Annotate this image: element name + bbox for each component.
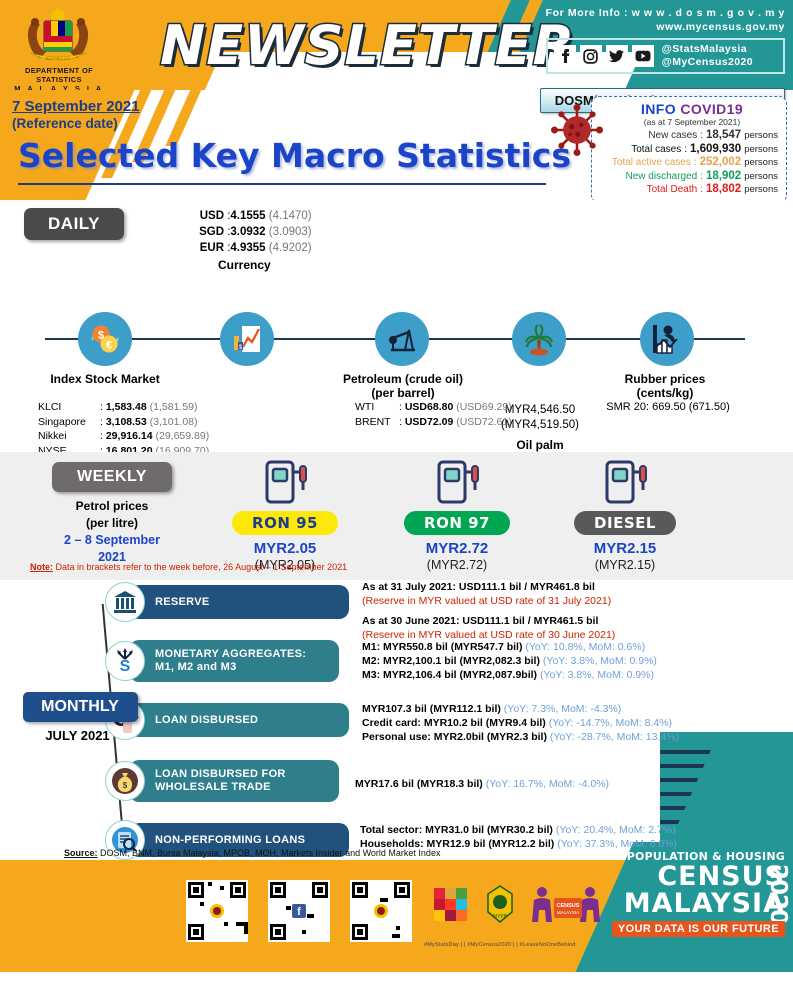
value-previous: (29,659.89) [155, 430, 209, 442]
fuel-column: RON 97MYR2.72(MYR2.72) [382, 458, 532, 572]
covid-row-unit: persons [744, 143, 778, 157]
monthly-value-main: Personal use: MYR2.0bil (MYR2.3 bil) [362, 731, 547, 743]
fuel-column: DIESELMYR2.15(MYR2.15) [550, 458, 700, 572]
petroleum-caption: Petroleum (crude oil) (per barrel) [318, 372, 488, 400]
covid-row: Total Death:18,802persons [606, 183, 778, 197]
covid-subtitle: (as at 7 September 2021) [606, 117, 778, 127]
monthly-value-main: As at 31 July 2021: USD111.1 bil / MYR46… [362, 581, 595, 593]
qr-code-dosm[interactable] [186, 880, 248, 942]
fuel-name: RON 95 [232, 511, 338, 535]
weekly-badge: WEEKLY [52, 462, 172, 492]
covid-row: New cases:18,547persons [606, 129, 778, 143]
monthly-row-label-l1: LOAN DISBURSED [155, 714, 258, 727]
daily-section: DAILY USD :4.1555 (4.1470)SGD :3.0932 (3… [0, 200, 793, 450]
covid-row-sep: : [694, 156, 697, 170]
currency-code: USD [190, 208, 224, 224]
weekly-note-label: Note: [30, 562, 53, 572]
value-sep: : [100, 401, 103, 413]
monthly-value-main: M3: MYR2,106.4 bil (MYR2,087.9bil) [362, 669, 537, 681]
covid-title-info: INFO [641, 101, 680, 117]
weekly-note-text: Data in brackets refer to the week befor… [53, 562, 347, 572]
monthly-row-label-l2: M1, M2 and M3 [155, 661, 329, 674]
monthly-row-label-l1: RESERVE [155, 596, 209, 609]
covid-row-label: New cases [648, 129, 697, 143]
facebook-icon[interactable] [554, 45, 576, 67]
newsletter-page: BERSEKUTU DEPARTMENT OF STATISTICS M A L… [0, 0, 793, 982]
value-previous: (USD69.29) [456, 401, 511, 413]
census-line-3: MALAYSIA [585, 890, 785, 918]
petrol-caption-l2: (per litre) [50, 515, 174, 532]
monthly-row-label-l1: LOAN DISBURSED FOR [155, 768, 329, 781]
monthly-value-change: (YoY: -14.7%, MoM: 8.4%) [546, 717, 672, 729]
currency-value: 4.1555 [230, 210, 265, 222]
monthly-value-sub: (Reserve in MYR valued at USD rate of 31… [362, 594, 615, 608]
fuel-pump-icon [253, 458, 317, 504]
department-name: DEPARTMENT OF STATISTICS M A L A Y S I A [14, 66, 104, 90]
value-sep: : [100, 416, 103, 428]
value-previous: (3,101.08) [150, 416, 198, 428]
fuel-pump-icon [425, 458, 489, 504]
money-supply-icon: S [105, 641, 145, 681]
value-name: Nikkei [38, 429, 100, 444]
twitter-icon[interactable] [606, 45, 628, 67]
coronavirus-icon [551, 104, 603, 156]
value-row: KLCI: 1,583.48 (1,581.59) [38, 400, 209, 415]
currency-code: SGD [190, 224, 224, 240]
covid-row-label: Total Death [647, 183, 698, 197]
monthly-row-values: MYR17.6 bil (MYR18.3 bil) (YoY: 16.7%, M… [355, 777, 609, 791]
weekly-section: WEEKLY Petrol prices (per litre) 2 – 8 S… [0, 452, 793, 580]
covid-info-panel: INFO COVID19 (as at 7 September 2021) Ne… [551, 96, 787, 200]
monthly-value-line: M1: MYR550.8 bil (MYR547.7 bil) (YoY: 10… [362, 640, 657, 654]
monthly-row: $LOAN DISBURSED FORWHOLESALE TRADE [105, 760, 339, 802]
covid-row: New discharged:18,902persons [606, 170, 778, 184]
covid-row-value: 18,802 [706, 183, 741, 197]
monthly-row-label: RESERVE [129, 585, 349, 619]
monthly-row-label: LOAN DISBURSED [129, 703, 349, 737]
fuel-column: RON 95MYR2.05(MYR2.05) [210, 458, 360, 572]
monthly-value-main: MYR107.3 bil (MYR112.1 bil) [362, 703, 501, 715]
svg-text:MYPB: MYPB [493, 914, 508, 920]
value-current: 3,108.53 [106, 416, 147, 428]
census-line-2: CENSUS [585, 863, 785, 890]
currency-code: EUR [190, 240, 224, 256]
monthly-row-values: As at 31 July 2021: USD111.1 bil / MYR46… [362, 580, 615, 648]
census-banner: POPULATION & HOUSING CENSUS MALAYSIA YOU… [585, 850, 785, 937]
oil-palm-caption-l1: Oil palm [470, 438, 610, 452]
monthly-value-line: Personal use: MYR2.0bil (MYR2.3 bil) (Yo… [362, 730, 679, 744]
page-header: BERSEKUTU DEPARTMENT OF STATISTICS M A L… [0, 0, 793, 90]
currency-prev: (3.0903) [269, 226, 312, 238]
svg-text:CENSUS: CENSUS [557, 903, 580, 909]
covid-row-sep: : [700, 170, 703, 184]
source-line: Source: DOSM, BNM, Bursa Malaysia, MPOB,… [64, 848, 440, 858]
covid-row-value: 252,002 [700, 156, 742, 170]
monthly-value-change: (YoY: 10.8%, MoM: 0.6%) [522, 641, 645, 653]
monthly-value-change: (YoY: 20.4%, MoM: 2.7%) [553, 824, 676, 836]
value-row: Nikkei: 29,916.14 (29,659.89) [38, 429, 209, 444]
petroleum-pumpjack-icon [375, 312, 429, 366]
malaysia-coat-of-arms: BERSEKUTU [18, 6, 98, 68]
rubber-value: SMR 20: 669.50 (671.50) [588, 400, 748, 415]
daily-badge: DAILY [24, 208, 124, 240]
monthly-badge-wrap: MONTHLY JULY 2021 [0, 692, 160, 737]
petroleum-caption-l1: Petroleum (crude oil) [318, 372, 488, 386]
monthly-value-change: (YoY: 16.7%, MoM: -4.0%) [483, 778, 609, 790]
social-handles: @StatsMalaysia @MyCensus2020 [662, 43, 753, 69]
reference-date-label: (Reference date) [12, 116, 118, 131]
value-current: USD72.09 [405, 416, 453, 428]
rubber-caption: Rubber prices (cents/kg) [600, 372, 730, 400]
monthly-period: JULY 2021 [0, 728, 155, 743]
covid-row-unit: persons [744, 183, 778, 197]
monthly-value-main: Total sector: MYR31.0 bil (MYR30.2 bil) [360, 824, 553, 836]
monthly-value-line: MYR107.3 bil (MYR112.1 bil) (YoY: 7.3%, … [362, 702, 679, 716]
monthly-value-line: As at 30 June 2021: USD111.1 bil / MYR46… [362, 614, 615, 628]
monthly-value-main: MYR17.6 bil (MYR18.3 bil) [355, 778, 483, 790]
money-bag-icon: $ [105, 761, 145, 801]
index-stock-market-icon: $ € [78, 312, 132, 366]
fuel-price-previous: (MYR2.15) [550, 558, 700, 572]
fuel-price: MYR2.15 [550, 540, 700, 557]
svg-text:BERSEKUTU: BERSEKUTU [46, 56, 71, 61]
qr-code-facebook[interactable]: f [268, 880, 330, 942]
covid-row-label: Total cases [631, 143, 681, 157]
covid-row-label: New discharged [626, 170, 698, 184]
value-sep: : [399, 401, 402, 413]
value-name: BRENT [355, 415, 399, 430]
monthly-row-label-l2: WHOLESALE TRADE [155, 781, 329, 794]
currency-values: USD :4.1555 (4.1470)SGD :3.0932 (3.0903)… [190, 208, 312, 256]
petroleum-values: WTI: USD68.80 (USD69.29)BRENT: USD72.09 … [355, 400, 512, 429]
covid-box: INFO COVID19 (as at 7 September 2021) Ne… [591, 96, 787, 200]
covid-row-unit: persons [744, 129, 778, 143]
petrol-caption: Petrol prices (per litre) 2 – 8 Septembe… [50, 498, 174, 566]
more-info-line-2: www.mycensus.gov.my [546, 20, 785, 34]
partner-logos: MYPB CENSUS MALAYSIA [430, 884, 606, 926]
currency-value: 3.0932 [230, 226, 265, 238]
covid-row: Total cases:1,609,930persons [606, 143, 778, 157]
value-current: USD68.80 [405, 401, 453, 413]
covid-row-sep: : [700, 129, 703, 143]
svg-text:f: f [297, 906, 301, 918]
value-current: 1,583.48 [106, 401, 147, 413]
monthly-row: SMONETARY AGGREGATES:M1, M2 and M3 [105, 640, 339, 682]
svg-text:$: $ [123, 781, 128, 790]
covid-row-value: 18,547 [706, 129, 741, 143]
monthly-value-change: (YoY: 7.3%, MoM: -4.3%) [501, 703, 621, 715]
dept-line-1: DEPARTMENT OF STATISTICS [14, 66, 104, 84]
monthly-value-change: (YoY: 3.8%, MoM: 0.9%) [537, 669, 654, 681]
currency-prev: (4.9202) [269, 242, 312, 254]
monthly-value-line: M3: MYR2,106.4 bil (MYR2,087.9bil) (YoY:… [362, 668, 657, 682]
covid-row-sep: : [700, 183, 703, 197]
monthly-row-values: M1: MYR550.8 bil (MYR547.7 bil) (YoY: 10… [362, 640, 657, 682]
covid-row-value: 1,609,930 [690, 143, 741, 157]
oil-palm-icon [512, 312, 566, 366]
currency-value: 4.9355 [230, 242, 265, 254]
fuel-price-previous: (MYR2.72) [382, 558, 532, 572]
newsletter-title: NEWSLETTER [160, 14, 575, 77]
monthly-value-change: (YoY: 37.3%, MoM: 6.0%) [554, 838, 677, 850]
currency-chart-icon: $ [220, 312, 274, 366]
value-row: BRENT: USD72.09 (USD72.61) [355, 415, 512, 430]
monthly-value-main: Credit card: MYR10.2 bil (MYR9.4 bil) [362, 717, 546, 729]
currency-caption: Currency [218, 258, 271, 272]
page-title: Selected Key Macro Statistics [18, 136, 571, 175]
monthly-value-line: MYR17.6 bil (MYR18.3 bil) (YoY: 16.7%, M… [355, 777, 609, 791]
monthly-row-label: LOAN DISBURSED FORWHOLESALE TRADE [129, 760, 339, 802]
value-previous: (USD72.61) [456, 416, 511, 428]
bank-icon [105, 582, 145, 622]
page-footer: Source: DOSM, BNM, Bursa Malaysia, MPOB,… [0, 842, 793, 972]
fuel-name: RON 97 [404, 511, 510, 535]
value-name: WTI [355, 400, 399, 415]
petroleum-caption-l2: (per barrel) [318, 386, 488, 400]
svg-text:S: S [120, 658, 131, 675]
covid-row-unit: persons [744, 156, 778, 170]
census-tagline: YOUR DATA IS OUR FUTURE [612, 921, 785, 937]
covid-row-value: 18,902 [706, 170, 741, 184]
handle-mycensus2020: @MyCensus2020 [662, 56, 753, 69]
monthly-value-change: (YoY: 3.8%, MoM: 0.9%) [540, 655, 657, 667]
value-row: WTI: USD68.80 (USD69.29) [355, 400, 512, 415]
rubber-caption-l1: Rubber prices [600, 372, 730, 386]
social-media-bar: @StatsMalaysia @MyCensus2020 [546, 38, 785, 74]
petrol-caption-l1: Petrol prices [50, 498, 174, 515]
more-info-line-1: For More Info : w w w . d o s m . g o v … [546, 6, 785, 20]
rubber-caption-l2: (cents/kg) [600, 386, 730, 400]
value-current: 29,916.14 [106, 430, 153, 442]
fuel-price: MYR2.05 [210, 540, 360, 557]
covid-row-label: Total active cases [612, 156, 691, 170]
source-label: Source: [64, 848, 98, 858]
covid-row-unit: persons [744, 170, 778, 184]
svg-text:MALAYSIA: MALAYSIA [557, 910, 579, 915]
hashtags: #MyStatsDay | | #MyCensus2020 | | #Leave… [424, 942, 576, 948]
instagram-icon[interactable] [580, 45, 602, 67]
currency-prev: (4.1470) [269, 210, 312, 222]
mypb-logo-icon: MYPB [482, 884, 518, 926]
value-sep: : [399, 416, 402, 428]
source-text: DOSM, BNM, Bursa Malaysia, MPOB, MOH, Ma… [98, 848, 441, 858]
stock-caption: Index Stock Market [20, 372, 190, 386]
value-previous: (1,581.59) [150, 401, 198, 413]
title-zone: 7 September 2021 (Reference date) Select… [0, 90, 793, 200]
monthly-row-values: Total sector: MYR31.0 bil (MYR30.2 bil) … [360, 823, 677, 851]
value-row: Singapore: 3,108.53 (3,101.08) [38, 415, 209, 430]
value-name: KLCI [38, 400, 100, 415]
monthly-section: MONTHLY JULY 2021 RESERVEAs at 31 July 2… [0, 580, 793, 842]
monthly-value-main: M2: MYR2,100.1 bil (MYR2,082.3 bil) [362, 655, 540, 667]
monthly-value-main: M1: MYR550.8 bil (MYR547.7 bil) [362, 641, 522, 653]
monthly-row-label-l1: NON-PERFORMING LOANS [155, 834, 305, 847]
monthly-row: RESERVE [105, 582, 349, 622]
currency-row: USD :4.1555 (4.1470) [190, 208, 312, 224]
monthly-row-values: MYR107.3 bil (MYR112.1 bil) (YoY: 7.3%, … [362, 702, 679, 744]
header-right-block: For More Info : w w w . d o s m . g o v … [546, 6, 785, 74]
handle-statsmalaysia: @StatsMalaysia [662, 43, 753, 56]
title-underline [18, 183, 546, 185]
dept-line-2: M A L A Y S I A [14, 84, 104, 90]
covid-row: Total active cases:252,002persons [606, 156, 778, 170]
fuel-price: MYR2.72 [382, 540, 532, 557]
monthly-value-line: As at 31 July 2021: USD111.1 bil / MYR46… [362, 580, 615, 594]
monthly-value-line: Total sector: MYR31.0 bil (MYR30.2 bil) … [360, 823, 677, 837]
sdg-wheel-icon [430, 884, 472, 926]
weekly-note: Note: Data in brackets refer to the week… [30, 562, 347, 572]
covid-title: INFO COVID19 [606, 101, 778, 117]
reference-date: 7 September 2021 [12, 98, 140, 115]
monthly-value-main: As at 30 June 2021: USD111.1 bil / MYR46… [362, 615, 598, 627]
rubber-prices-icon [640, 312, 694, 366]
monthly-badge: MONTHLY [23, 692, 138, 722]
currency-row: EUR :4.9355 (4.9202) [190, 240, 312, 256]
petrol-date-range: 2 – 8 September 2021 [50, 532, 174, 566]
qr-code-census[interactable] [350, 880, 412, 942]
monthly-value-line: Credit card: MYR10.2 bil (MYR9.4 bil) (Y… [362, 716, 679, 730]
fuel-pump-icon [593, 458, 657, 504]
value-sep: : [100, 430, 103, 442]
covid-row-sep: : [684, 143, 687, 157]
fuel-name: DIESEL [574, 511, 676, 535]
currency-row: SGD :3.0932 (3.0903) [190, 224, 312, 240]
monthly-value-change: (YoY: -28.7%, MoM: 13.4%) [547, 731, 679, 743]
covid-title-covid19: COVID19 [680, 101, 743, 117]
monthly-row-label: MONETARY AGGREGATES:M1, M2 and M3 [129, 640, 339, 682]
youtube-icon[interactable] [632, 45, 654, 67]
monthly-value-line: M2: MYR2,100.1 bil (MYR2,082.3 bil) (YoY… [362, 654, 657, 668]
monthly-row-label-l1: MONETARY AGGREGATES: [155, 648, 329, 661]
value-name: Singapore [38, 415, 100, 430]
stock-values: KLCI: 1,583.48 (1,581.59)Singapore: 3,10… [38, 400, 209, 458]
covid-rows: New cases:18,547personsTotal cases:1,609… [606, 129, 778, 197]
svg-text:€: € [106, 340, 112, 352]
